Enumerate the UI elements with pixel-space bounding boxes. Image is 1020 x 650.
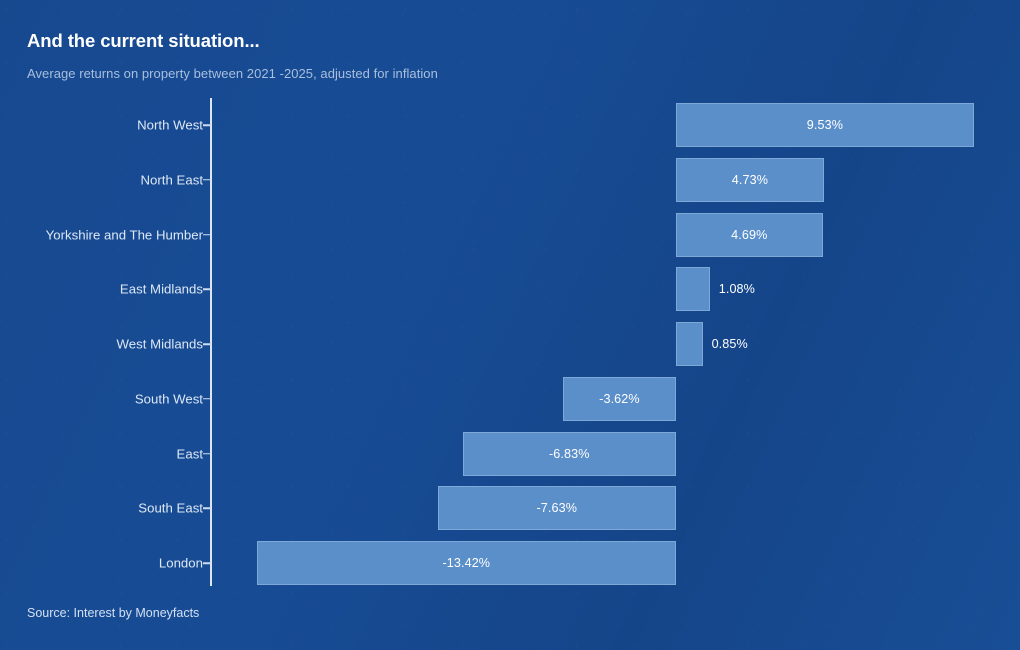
y-axis-tick (203, 562, 211, 564)
y-axis-tick (203, 398, 211, 400)
y-axis-tick (203, 289, 211, 291)
category-label: London (159, 556, 203, 571)
y-axis-tick (203, 508, 211, 510)
bar[interactable] (676, 322, 703, 366)
category-label: South East (138, 501, 203, 516)
bar-value-label: -13.42% (257, 556, 676, 570)
bar-value-label: 4.69% (676, 228, 823, 242)
bar-value-label: -7.63% (438, 501, 676, 515)
category-label: North East (141, 172, 204, 187)
chart-page: And the current situation... Average ret… (0, 0, 1020, 650)
y-axis-tick (203, 453, 211, 455)
y-axis-tick (203, 234, 211, 236)
bar[interactable] (676, 267, 710, 311)
category-label: West Midlands (117, 337, 204, 352)
y-axis-tick (203, 179, 211, 181)
bar-value-label: -3.62% (563, 392, 676, 406)
source-caption: Source: Interest by Moneyfacts (27, 606, 199, 620)
category-label: Yorkshire and The Humber (46, 227, 203, 242)
category-label: East (177, 446, 203, 461)
y-axis-tick (203, 343, 211, 345)
bar-value-label: 0.85% (712, 337, 748, 351)
bar-value-label: 1.08% (719, 282, 755, 296)
bar-chart-plot-area: North West9.53%North East4.73%Yorkshire … (0, 0, 1020, 650)
bar-value-label: 4.73% (676, 173, 824, 187)
category-label: East Midlands (120, 282, 203, 297)
y-axis-spine (210, 98, 212, 586)
category-label: South West (135, 391, 203, 406)
y-axis-tick (203, 124, 211, 126)
bar-value-label: -6.83% (463, 447, 676, 461)
bar-value-label: 9.53% (676, 118, 974, 132)
category-label: North West (137, 118, 203, 133)
